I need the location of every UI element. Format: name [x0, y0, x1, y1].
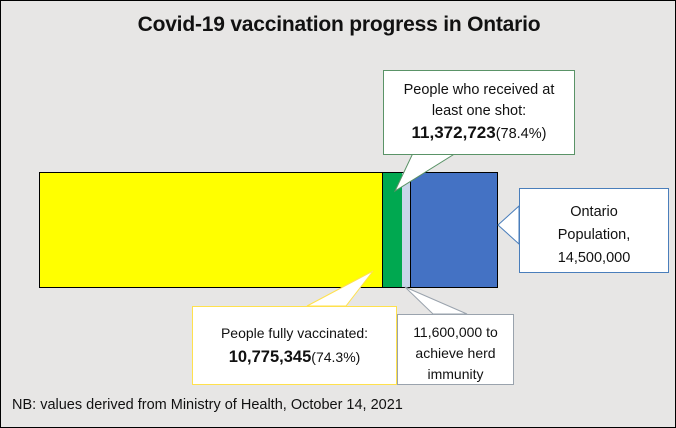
callout-fully-percent: (74.3%): [311, 349, 360, 365]
callout-one-dose-percent: (78.4%): [496, 126, 547, 142]
callout-one-dose-line2: least one shot:: [394, 101, 564, 122]
callout-herd-line2: achieve herd: [404, 343, 507, 364]
callout-ontario-population: Ontario Population, 14,500,000: [519, 188, 669, 273]
callout-herd-immunity: 11,600,000 to achieve herd immunity: [397, 314, 514, 385]
infographic-canvas: Covid-19 vaccination progress in Ontario…: [0, 0, 676, 428]
callout-at-least-one-shot: People who received at least one shot: 1…: [383, 70, 575, 155]
bar-segment-fully-vaccinated: [39, 172, 383, 288]
callout-fully-value: 10,775,345: [229, 348, 312, 366]
callout-herd-line1: 11,600,000 to: [404, 322, 507, 343]
stacked-bar: [39, 172, 498, 288]
callout-fully-vaccinated: People fully vaccinated: 10,775,345(74.3…: [192, 306, 397, 385]
page-title: Covid-19 vaccination progress in Ontario: [91, 11, 587, 38]
callout-one-dose-line1: People who received at: [394, 80, 564, 101]
source-footnote: NB: values derived from Ministry of Heal…: [12, 397, 403, 413]
callout-herd-line3: immunity: [404, 364, 507, 385]
callout-population-line2: Population,: [528, 224, 660, 247]
bar-segment-remaining-population: [410, 172, 498, 288]
callout-tail-herd-immunity: [405, 287, 467, 314]
bar-segment-at-least-one-shot: [382, 172, 403, 288]
callout-population-line3: 14,500,000: [528, 247, 660, 270]
callout-fully-line1: People fully vaccinated:: [201, 321, 388, 345]
callout-population-line1: Ontario: [528, 201, 660, 224]
callout-one-dose-value: 11,372,723: [412, 123, 496, 142]
callout-tail-population: [498, 206, 519, 244]
